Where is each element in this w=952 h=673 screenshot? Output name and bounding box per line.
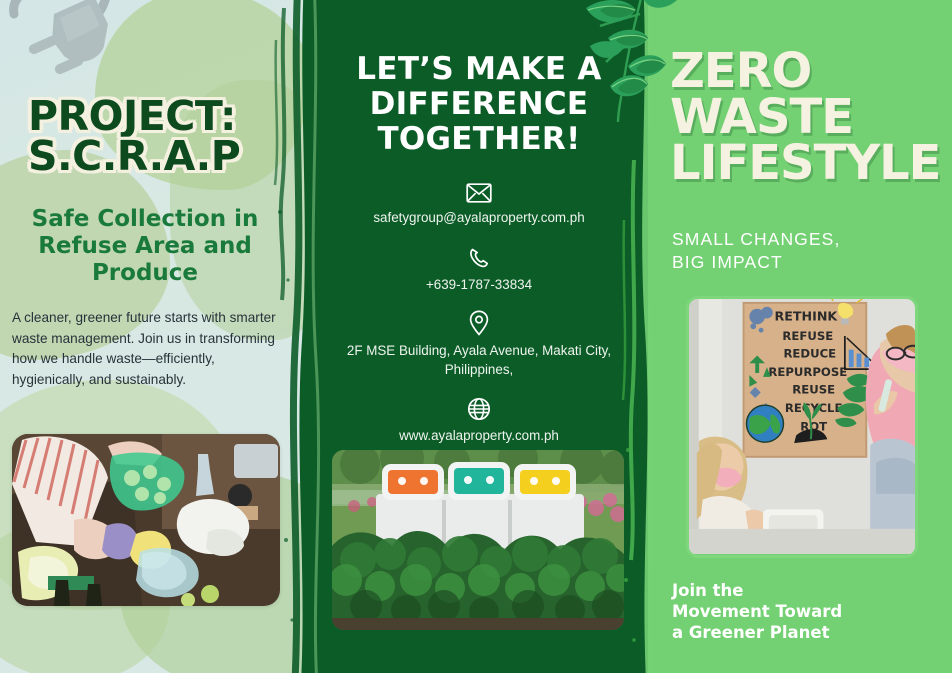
page-title-line1: PROJECT: — [28, 96, 278, 136]
left-subheading: Safe Collection in Refuse Area and Produ… — [14, 206, 276, 287]
contact-phone[interactable]: +639-1787-33834 — [315, 246, 643, 295]
contact-block: safetygroup@ayalaproperty.com.ph +639-17… — [315, 183, 643, 464]
leaf-branch-icon — [556, 0, 686, 122]
right-title-line3: LIFESTYLE — [670, 140, 948, 186]
right-subtitle-line1: SMALL CHANGES, — [672, 228, 942, 251]
right-title-line1: ZERO — [670, 48, 948, 94]
contact-email-value: safetygroup@ayalaproperty.com.ph — [315, 209, 643, 228]
page-title-line2: S.C.R.A.P — [28, 136, 278, 176]
right-subtitle-line2: BIG IMPACT — [672, 251, 942, 274]
envelope-icon — [466, 183, 492, 203]
left-panel: PROJECT: S.C.R.A.P Safe Collection in Re… — [0, 0, 312, 673]
contact-website-value: www.ayalaproperty.com.ph — [315, 427, 643, 446]
right-title-line2: WASTE — [670, 94, 948, 140]
cta-line1: Join the — [672, 580, 902, 601]
page-title: PROJECT: S.C.R.A.P — [28, 96, 278, 176]
svg-text:REPURPOSE: REPURPOSE — [768, 365, 847, 379]
cta-text: Join the Movement Toward a Greener Plane… — [672, 580, 902, 643]
cta-line2: Movement Toward — [672, 601, 902, 622]
contact-address[interactable]: 2F MSE Building, Ayala Avenue, Makati Ci… — [315, 310, 643, 379]
svg-text:REFUSE: REFUSE — [782, 329, 833, 343]
tri-fold-brochure: PROJECT: S.C.R.A.P Safe Collection in Re… — [0, 0, 952, 673]
photo-recycling-bins — [332, 450, 624, 630]
photo-waste-sorting — [12, 434, 280, 606]
phone-icon — [467, 246, 491, 270]
svg-text:REUSE: REUSE — [792, 382, 835, 396]
contact-website[interactable]: www.ayalaproperty.com.ph — [315, 397, 643, 446]
right-panel-subtitle: SMALL CHANGES, BIG IMPACT — [672, 228, 942, 274]
photo-classroom-poster: RETHINK REFUSE REDUCE REPURPOSE REUSE RE… — [686, 296, 918, 558]
contact-phone-value: +639-1787-33834 — [315, 276, 643, 295]
svg-text:REDUCE: REDUCE — [783, 346, 836, 360]
contact-address-value: 2F MSE Building, Ayala Avenue, Makati Ci… — [315, 342, 643, 379]
cta-line3: a Greener Planet — [672, 622, 902, 643]
location-pin-icon — [468, 310, 490, 336]
contact-email[interactable]: safetygroup@ayalaproperty.com.ph — [315, 183, 643, 228]
globe-icon — [467, 397, 491, 421]
svg-text:RETHINK: RETHINK — [775, 308, 839, 323]
right-panel-title: ZERO WASTE LIFESTYLE — [670, 48, 948, 186]
left-body-text: A cleaner, greener future starts with sm… — [12, 308, 282, 391]
